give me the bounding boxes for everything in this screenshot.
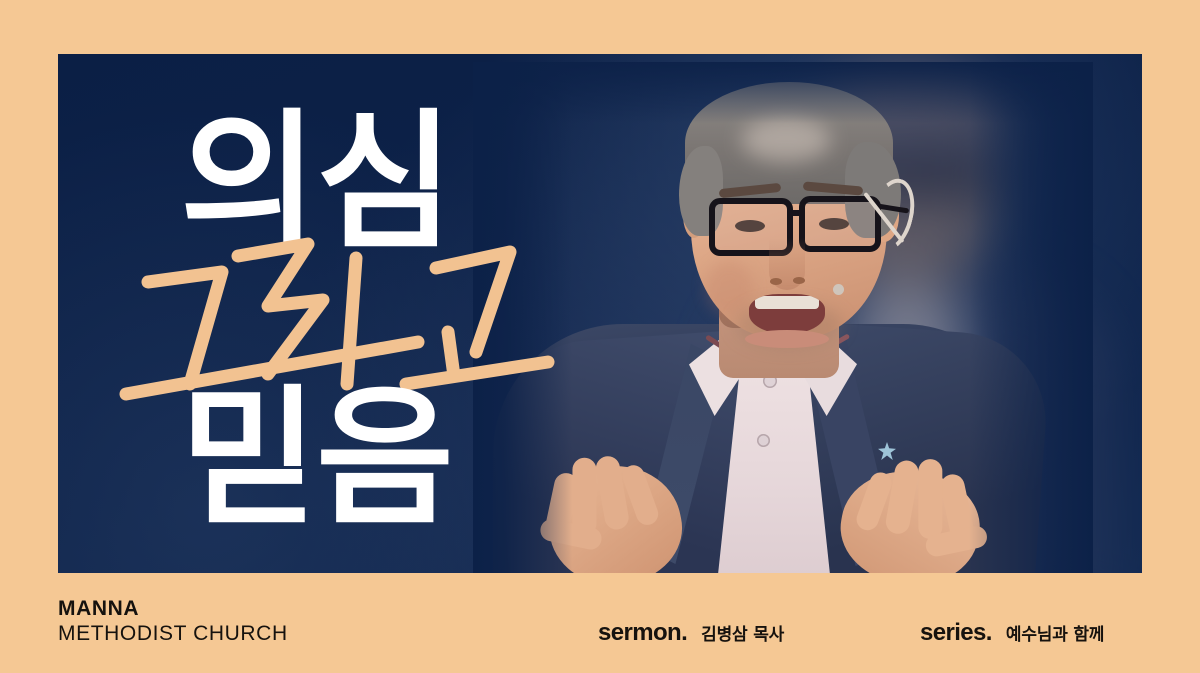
nostril-right xyxy=(793,277,805,284)
lower-lip xyxy=(745,330,829,348)
sermon-title-block: 의심 그리고 xyxy=(58,54,618,573)
cheek-shading xyxy=(705,260,753,316)
mouth-open xyxy=(749,294,825,334)
main-navy-panel: 의심 그리고 xyxy=(58,54,1142,573)
church-logo-name: MANNA xyxy=(58,597,288,622)
nostril-left xyxy=(770,278,782,285)
headset-mic-icon-capsule xyxy=(833,284,844,295)
sermon-meta: sermon. 김병삼 목사 xyxy=(598,619,784,647)
church-logo-subtitle: METHODIST CHURCH xyxy=(58,622,288,647)
church-logo: MANNA METHODIST CHURCH xyxy=(58,597,288,647)
title-line-top: 의심 xyxy=(180,108,452,258)
teeth xyxy=(755,296,819,309)
glasses-bridge xyxy=(791,210,805,216)
footer-bar: MANNA METHODIST CHURCH sermon. 김병삼 목사 se… xyxy=(0,573,1200,673)
title-script-word-text: 그리고 xyxy=(118,234,119,235)
finger xyxy=(918,459,942,539)
sermon-speaker-name: 김병삼 목사 xyxy=(701,620,784,645)
title-line-bottom: 믿음 xyxy=(180,384,452,534)
series-meta: series. 예수님과 함께 xyxy=(920,619,1104,647)
shirt-button-bottom xyxy=(757,434,770,447)
sermon-label: sermon. xyxy=(598,619,687,647)
series-label: series. xyxy=(920,619,992,647)
forehead-highlight xyxy=(741,118,831,162)
series-title: 예수님과 함께 xyxy=(1006,620,1104,645)
